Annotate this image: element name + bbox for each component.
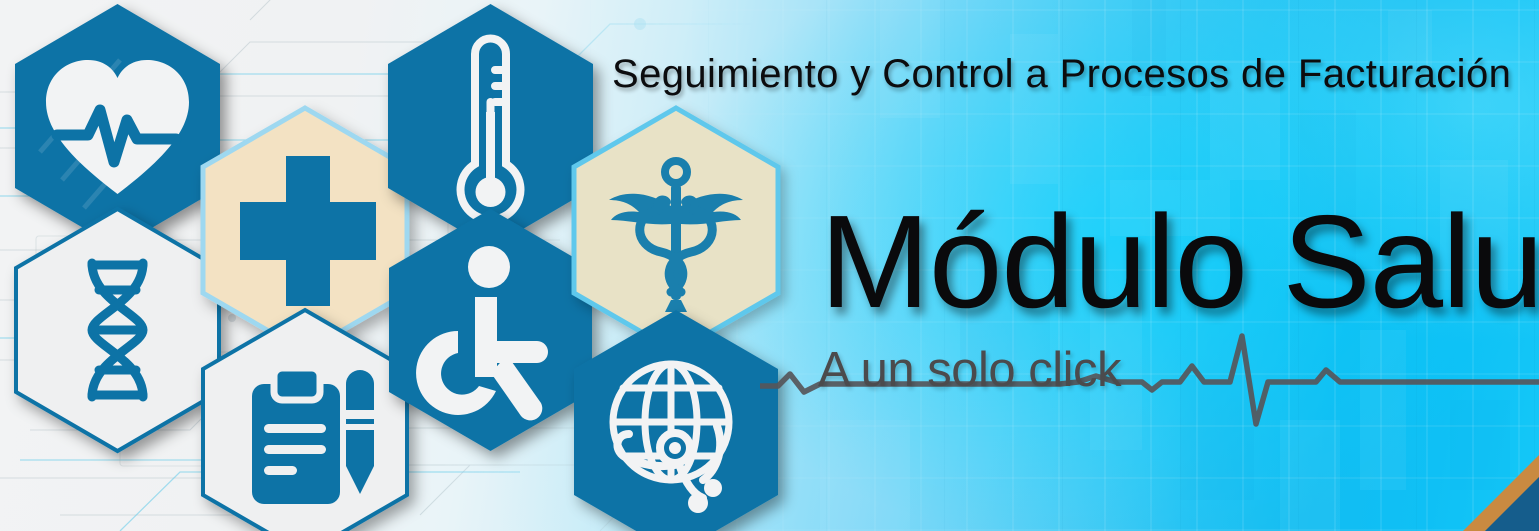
health-module-banner: Seguimiento y Control a Procesos de Fact…	[0, 0, 1539, 531]
banner-subtitle: Seguimiento y Control a Procesos de Fact…	[612, 52, 1511, 97]
corner-accent-stripe	[1427, 445, 1539, 531]
clipboard-pen-icon	[252, 368, 376, 504]
banner-tagline: A un solo click	[818, 346, 1121, 395]
banner-title: Módulo Salud	[820, 196, 1539, 328]
